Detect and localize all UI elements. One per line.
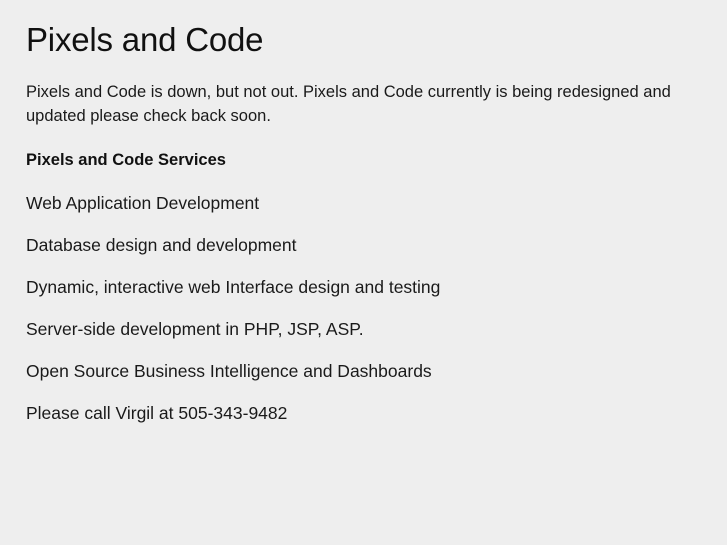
list-item: Web Application Development — [26, 171, 701, 213]
page-container: Pixels and Code Pixels and Code is down,… — [0, 0, 727, 545]
list-item: Dynamic, interactive web Interface desig… — [26, 255, 701, 297]
page-title: Pixels and Code — [26, 0, 701, 59]
list-item: Database design and development — [26, 213, 701, 255]
contact-line: Please call Virgil at 505-343-9482 — [26, 381, 701, 423]
services-list: Web Application Development Database des… — [26, 171, 701, 381]
list-item: Open Source Business Intelligence and Da… — [26, 339, 701, 381]
services-heading: Pixels and Code Services — [26, 128, 701, 171]
list-item: Server-side development in PHP, JSP, ASP… — [26, 297, 701, 339]
intro-paragraph: Pixels and Code is down, but not out. Pi… — [26, 59, 701, 128]
